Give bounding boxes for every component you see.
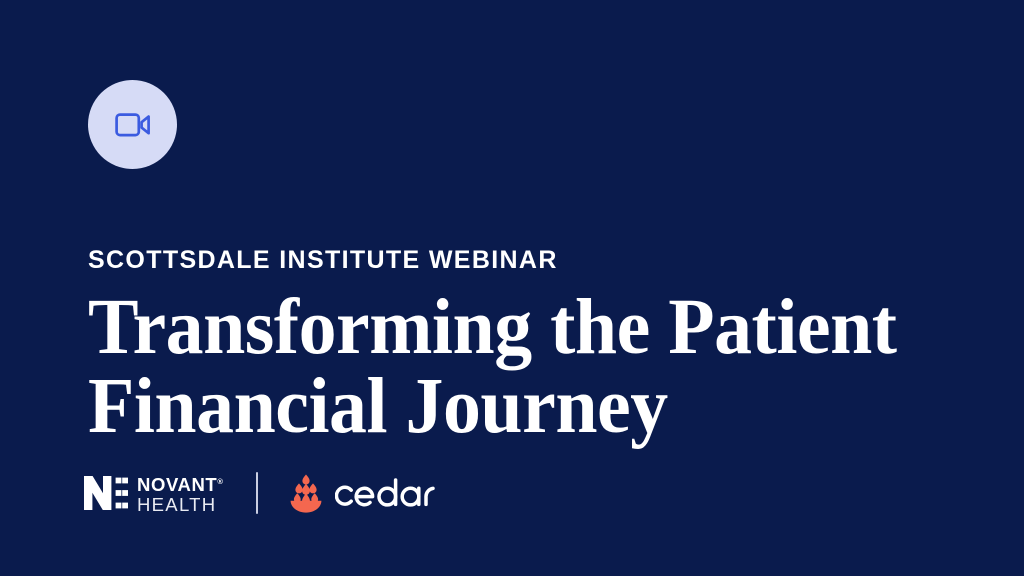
page-title-line-2: Financial Journey [88, 367, 933, 446]
novant-n-mark-icon [84, 476, 128, 510]
logo-divider [256, 472, 258, 514]
novant-name-top: NOVANT® [137, 472, 223, 494]
novant-wordmark: NOVANT® HEALTH [137, 475, 223, 511]
page-title-line-1: Transforming the Patient [88, 288, 933, 367]
novant-name-bottom: HEALTH [137, 495, 223, 514]
cedar-logo [289, 472, 435, 514]
video-badge [88, 80, 177, 169]
registered-trademark-icon: ® [217, 477, 223, 486]
page-title: Transforming the Patient Financial Journ… [88, 288, 933, 446]
webinar-title-slide: SCOTTSDALE INSTITUTE WEBINAR Transformin… [0, 0, 1024, 576]
logo-row: NOVANT® HEALTH [84, 468, 435, 518]
novant-health-logo: NOVANT® HEALTH [84, 473, 223, 513]
cedar-pinecone-icon [289, 474, 323, 513]
video-camera-icon [115, 112, 151, 138]
cedar-wordmark [335, 477, 435, 509]
eyebrow-label: SCOTTSDALE INSTITUTE WEBINAR [88, 248, 558, 273]
